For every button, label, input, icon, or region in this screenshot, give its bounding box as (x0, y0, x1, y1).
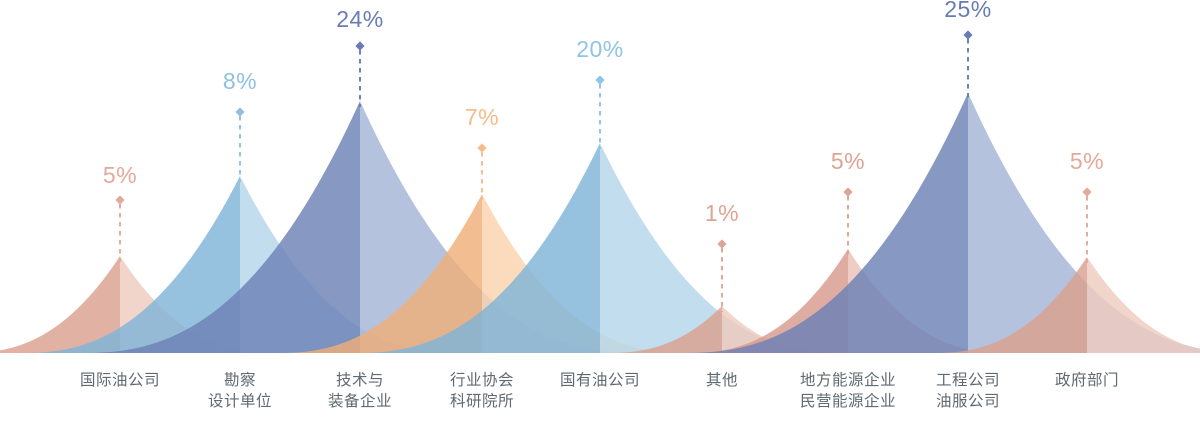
value-label-3: 24% (290, 6, 430, 33)
value-label-4: 7% (412, 104, 552, 131)
peak-right-face (1087, 257, 1200, 353)
value-marker (355, 41, 364, 50)
value-marker (235, 107, 244, 116)
leader-7 (843, 187, 852, 255)
value-label-8: 25% (898, 0, 1038, 23)
leader-5 (595, 75, 604, 149)
value-marker (963, 30, 972, 39)
leader-4 (477, 143, 486, 200)
value-label-6: 1% (652, 200, 792, 227)
leader-1 (115, 195, 124, 262)
category-label-9: 政府部门 (1007, 370, 1167, 391)
value-label-1: 5% (50, 162, 190, 189)
peak-chart: 5%8%24%7%20%1%5%25%5% 国际油公司勘察 设计单位技术与 装备… (0, 0, 1200, 422)
value-label-2: 8% (170, 68, 310, 95)
leader-3 (355, 41, 364, 107)
value-marker (843, 187, 852, 196)
value-label-7: 5% (778, 148, 918, 175)
leader-9 (1082, 187, 1091, 263)
value-marker (717, 239, 726, 248)
value-marker (115, 195, 124, 204)
value-label-5: 20% (530, 36, 670, 63)
leader-6 (717, 239, 726, 312)
value-label-9: 5% (1017, 148, 1157, 175)
value-marker (477, 143, 486, 152)
leader-8 (963, 30, 972, 99)
value-marker (595, 75, 604, 84)
leader-2 (235, 107, 244, 182)
value-marker (1082, 187, 1091, 196)
peaks-svg (0, 0, 1200, 422)
